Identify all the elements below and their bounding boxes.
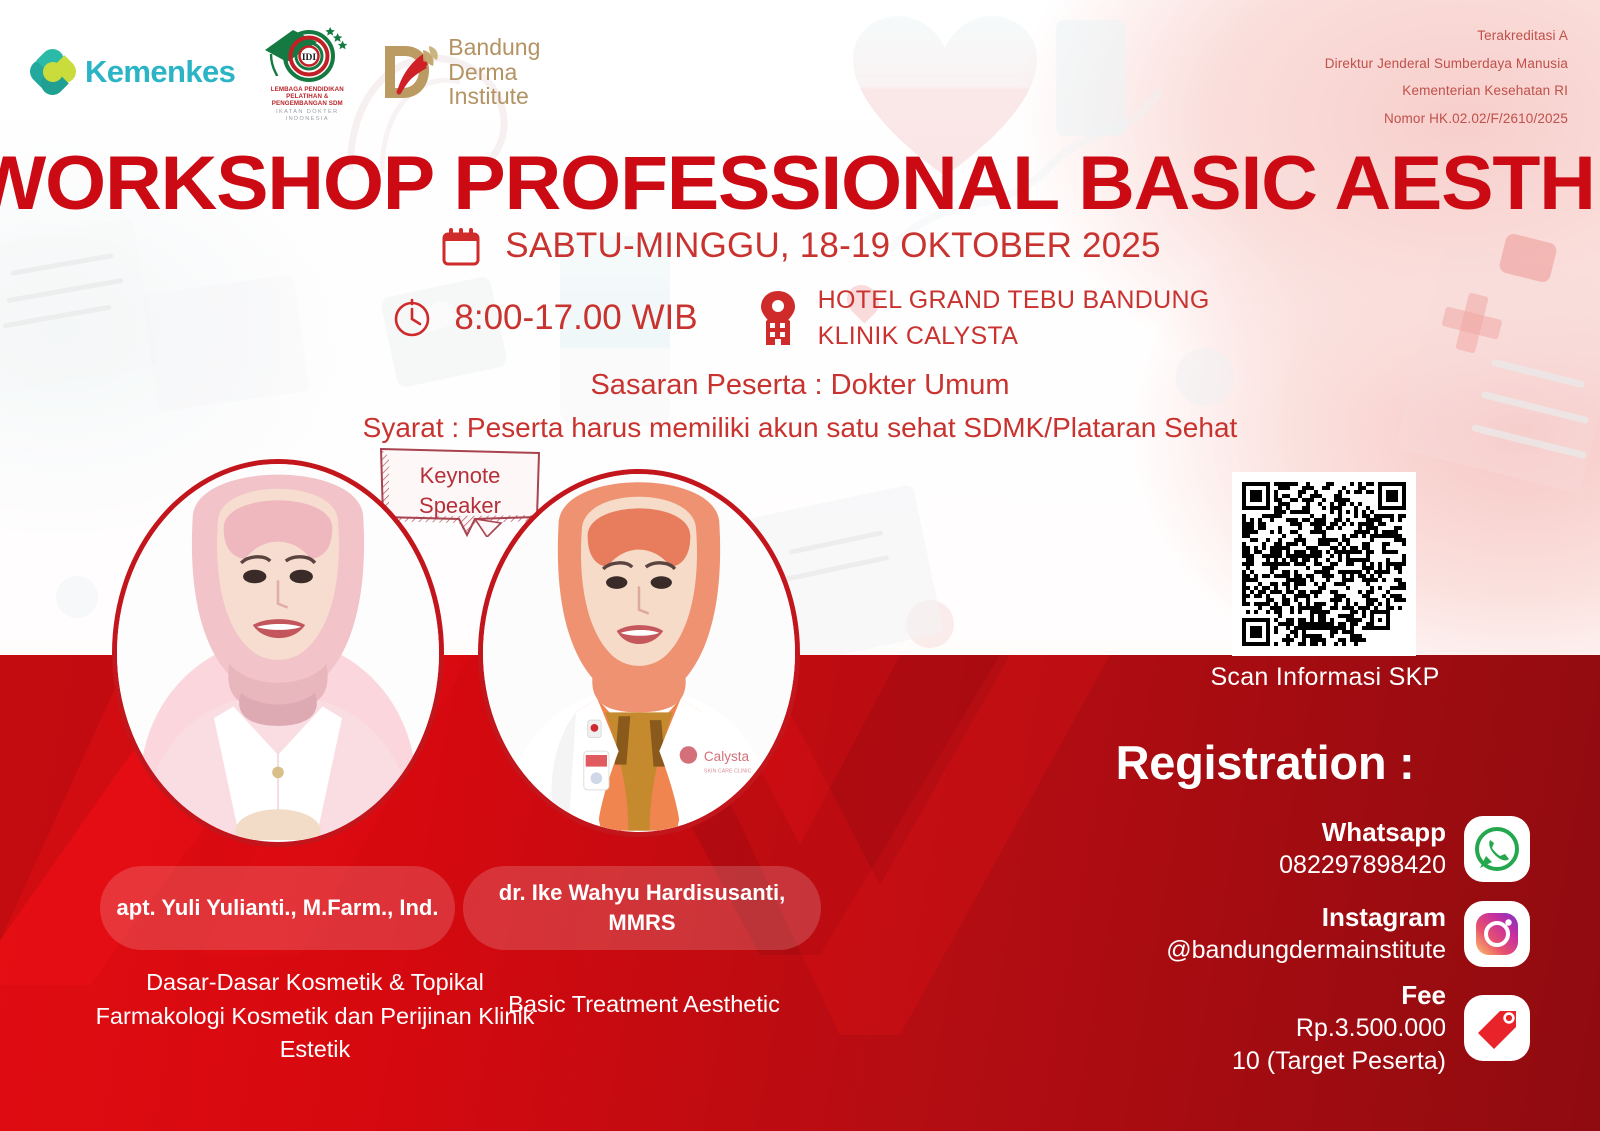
bokeh-circle-3 [56, 576, 98, 618]
fee-label: Fee [1232, 978, 1446, 1012]
venue-group: HOTEL GRAND TEBU BANDUNG KLINIK CALYSTA [754, 282, 1210, 355]
fee-text: Fee Rp.3.500.000 10 (Target Peserta) [1232, 978, 1446, 1078]
kemenkes-wordmark: Kemenkes [85, 54, 235, 90]
target-participants: Sasaran Peserta : Dokter Umum [0, 369, 1600, 402]
idi-subtitle: LEMBAGA PENDIDIKAN PELATIHAN & PENGEMBAN… [257, 86, 357, 122]
kemenkes-mark-icon [30, 49, 76, 95]
whatsapp-text: Whatsapp 082297898420 [1279, 815, 1446, 882]
idi-line-3: IKATAN DOKTER INDONESIA [257, 109, 357, 122]
idi-line-2: PENGEMBANGAN SDM [257, 100, 357, 107]
fee-quota: 10 (Target Peserta) [1232, 1045, 1446, 1078]
event-info-block: SABTU-MINGGU, 18-19 OKTOBER 2025 8:00-17… [0, 224, 1600, 444]
idi-emblem-icon: IDI [257, 22, 357, 88]
accreditation-line-2: Direktur Jenderal Sumberdaya Manusia [1325, 50, 1568, 78]
instagram-icon[interactable] [1464, 901, 1530, 967]
venue-line-1: HOTEL GRAND TEBU BANDUNG [818, 282, 1210, 318]
speaker-2-name-pill: dr. Ike Wahyu Hardisusanti, MMRS [463, 866, 821, 950]
speaker-1-name-pill: apt. Yuli Yulianti., M.Farm., Ind. [100, 866, 455, 950]
event-date: SABTU-MINGGU, 18-19 OKTOBER 2025 [505, 226, 1160, 266]
poster-title: WORKSHOP PROFESSIONAL BASIC AESTHETIC [0, 140, 1600, 227]
svg-text:IDI: IDI [302, 53, 317, 63]
bdi-wordmark: Bandung Derma Institute [448, 35, 540, 108]
registration-title: Registration : [1000, 735, 1530, 790]
instagram-label: Instagram [1166, 900, 1446, 934]
qr-code[interactable] [1232, 472, 1416, 656]
speaker-2-name: dr. Ike Wahyu Hardisusanti, MMRS [479, 878, 805, 937]
logo-bar: Kemenkes IDI LEMBAGA PENDIDIKAN PELATIHA… [30, 22, 540, 122]
qr-caption: Scan Informasi SKP [1120, 663, 1530, 692]
whatsapp-label: Whatsapp [1279, 815, 1446, 849]
bdi-mark-icon [379, 40, 441, 104]
bandung-derma-institute-logo: Bandung Derma Institute [379, 35, 540, 108]
idi-line-1: LEMBAGA PENDIDIKAN PELATIHAN & [257, 86, 357, 100]
poster-root: Kemenkes IDI LEMBAGA PENDIDIKAN PELATIHA… [0, 0, 1600, 1131]
time-venue-row: 8:00-17.00 WIB HOTEL GRAND TEBU BANDUNG … [0, 282, 1600, 355]
calendar-icon [439, 224, 483, 268]
whatsapp-icon[interactable] [1464, 816, 1530, 882]
location-hospital-icon [754, 289, 802, 347]
price-tag-icon [1464, 995, 1530, 1061]
qr-canvas [1242, 482, 1406, 646]
accreditation-line-3: Kementerian Kesehatan RI [1325, 77, 1568, 105]
fee-amount: Rp.3.500.000 [1232, 1012, 1446, 1045]
speaker-1-name: apt. Yuli Yulianti., M.Farm., Ind. [117, 893, 439, 923]
instagram-handle: @bandungdermainstitute [1166, 934, 1446, 967]
requirement-text: Syarat : Peserta harus memiliki akun sat… [0, 412, 1600, 444]
venue-lines: HOTEL GRAND TEBU BANDUNG KLINIK CALYSTA [818, 282, 1210, 355]
accreditation-line-1: Terakreditasi A [1325, 22, 1568, 50]
date-row: SABTU-MINGGU, 18-19 OKTOBER 2025 [0, 224, 1600, 268]
instagram-text: Instagram @bandungdermainstitute [1166, 900, 1446, 967]
idi-logo: IDI LEMBAGA PENDIDIKAN PELATIHAN & PENGE… [257, 22, 357, 122]
registration-whatsapp[interactable]: Whatsapp 082297898420 [1140, 815, 1530, 882]
clock-icon [390, 296, 434, 340]
event-time: 8:00-17.00 WIB [454, 298, 697, 338]
registration-fee: Fee Rp.3.500.000 10 (Target Peserta) [1080, 978, 1530, 1078]
bdi-line-1: Bandung [448, 35, 540, 59]
speaker-2-photo: Calysta SKIN CARE CLINIC [483, 474, 795, 831]
svg-text:Calysta: Calysta [704, 749, 750, 764]
accreditation-block: Terakreditasi A Direktur Jenderal Sumber… [1325, 22, 1568, 133]
registration-instagram[interactable]: Instagram @bandungdermainstitute [1000, 900, 1530, 967]
speaker-1-photo [117, 464, 439, 840]
whatsapp-number: 082297898420 [1279, 849, 1446, 882]
accreditation-line-4: Nomor HK.02.02/F/2610/2025 [1325, 105, 1568, 133]
bdi-line-2: Derma [448, 60, 540, 84]
speaker-2-topic: Basic Treatment Aesthetic [450, 988, 838, 1022]
speaker-1-portrait [112, 459, 444, 847]
speaker-2-portrait: Calysta SKIN CARE CLINIC [478, 469, 800, 837]
svg-text:SKIN CARE CLINIC: SKIN CARE CLINIC [704, 768, 752, 774]
kemenkes-logo: Kemenkes [30, 49, 235, 95]
venue-line-2: KLINIK CALYSTA [818, 318, 1210, 354]
time-group: 8:00-17.00 WIB [390, 296, 697, 340]
bdi-line-3: Institute [448, 84, 540, 108]
